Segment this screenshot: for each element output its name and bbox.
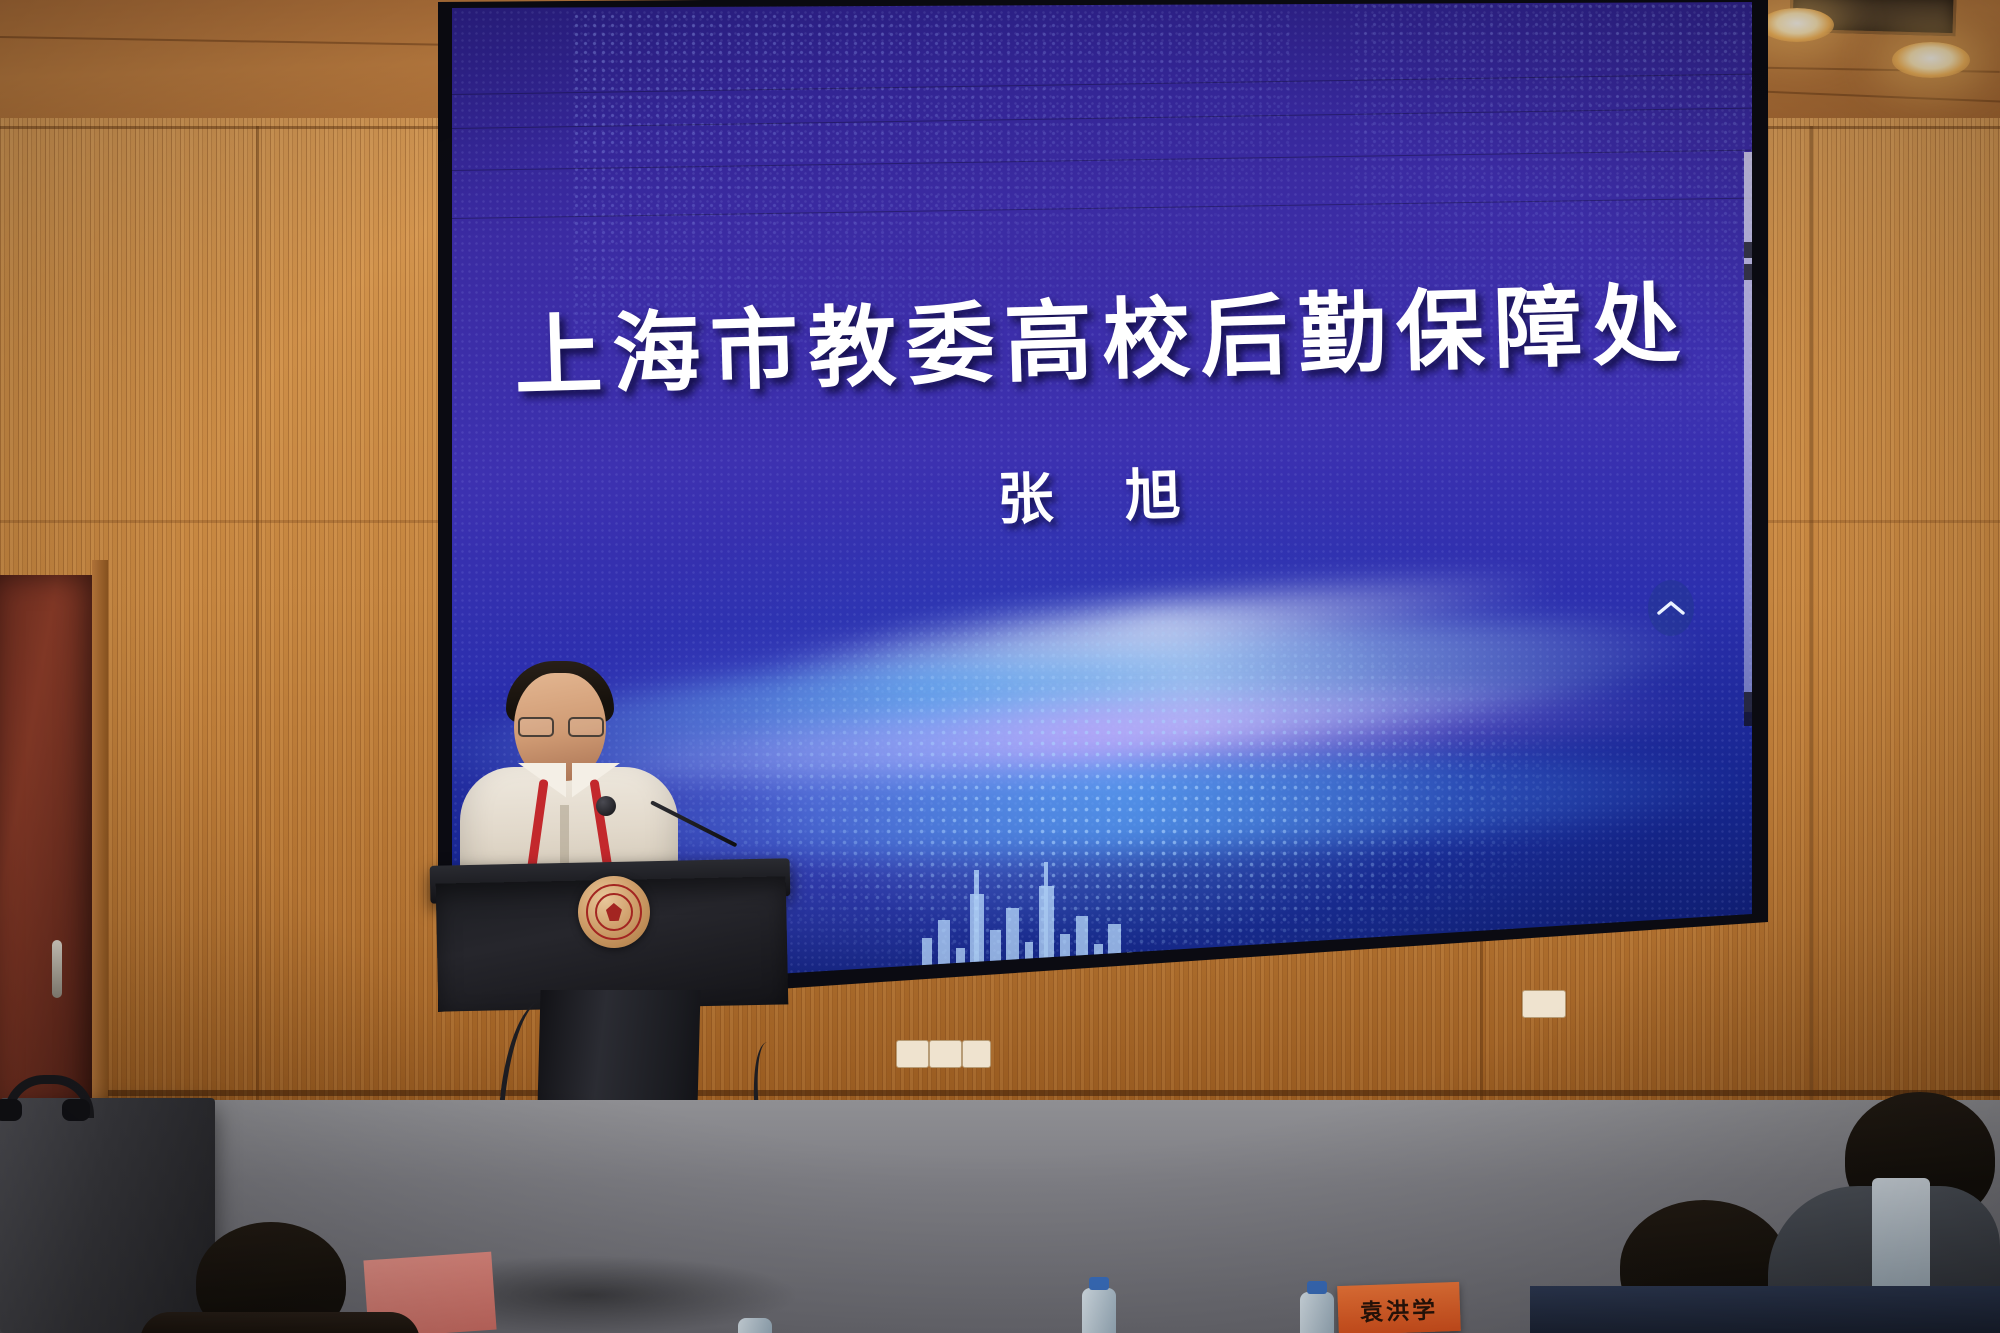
water-bottle bbox=[738, 1318, 772, 1333]
screen-edge-marker bbox=[1744, 242, 1752, 258]
eyeglasses-icon bbox=[518, 717, 604, 733]
name-placard: 袁洪学 bbox=[1337, 1282, 1461, 1333]
wall-panel-seam bbox=[1810, 126, 1813, 1106]
wall-outlet bbox=[962, 1040, 991, 1068]
name-placard-text: 袁洪学 bbox=[1359, 1290, 1438, 1327]
audience-table bbox=[1530, 1286, 2000, 1333]
chevron-up-icon[interactable] bbox=[1648, 580, 1694, 636]
wall-panel-seam bbox=[256, 126, 259, 1106]
downlight bbox=[1892, 42, 1970, 78]
water-bottle bbox=[1300, 1292, 1334, 1333]
headphones-icon bbox=[0, 1075, 90, 1119]
water-bottle bbox=[1082, 1288, 1116, 1333]
wall-outlet bbox=[896, 1040, 929, 1068]
wall-outlet bbox=[929, 1040, 962, 1068]
wall-baseboard bbox=[0, 1090, 2000, 1096]
door-handle[interactable] bbox=[52, 940, 62, 998]
screen-edge-marker bbox=[1744, 264, 1752, 280]
screen-edge-marker bbox=[1744, 692, 1752, 726]
av-equipment-case bbox=[0, 1098, 215, 1333]
audience-shoulder bbox=[140, 1312, 420, 1333]
downlight bbox=[1760, 8, 1834, 42]
presentation-photo-scene: 上海市教委高校后勤保障处 张 旭 bbox=[0, 0, 2000, 1333]
microphone-icon bbox=[596, 796, 616, 816]
screen-edge-scrollbar[interactable] bbox=[1744, 152, 1752, 712]
wall-outlet bbox=[1522, 990, 1566, 1018]
